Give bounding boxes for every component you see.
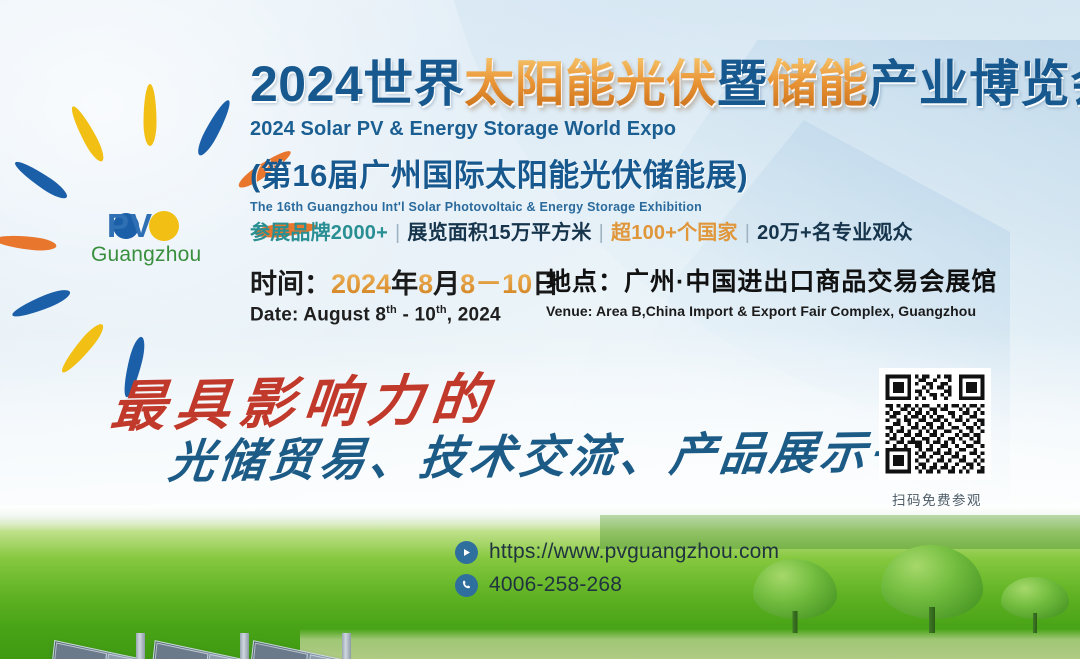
- qr-code-image[interactable]: [879, 368, 991, 480]
- logo-city-text: Guangzhou: [91, 243, 201, 267]
- logo-petal: [12, 157, 71, 202]
- logo-petal: [0, 233, 57, 252]
- date-label: 时间：: [250, 269, 331, 299]
- play-circle-icon: [455, 541, 478, 564]
- title-seg-5: 产业博览会: [868, 56, 1080, 112]
- phone-row[interactable]: 4006-258-268: [455, 573, 779, 597]
- title-seg-2: 太阳能光伏: [464, 56, 717, 112]
- stat-separator: |: [738, 222, 757, 244]
- date-en-sup1: th: [386, 304, 397, 316]
- logo-petal: [144, 84, 157, 146]
- logo-petal: [194, 97, 235, 158]
- logo-petal: [58, 320, 108, 376]
- date-english: Date: August 8th - 10th, 2024: [250, 304, 559, 326]
- date-month: 8: [418, 269, 433, 299]
- qr-block: 扫码免费参观: [879, 368, 995, 509]
- main-title: 2024世界太阳能光伏暨储能产业博览会: [250, 58, 1040, 111]
- stat-separator: |: [592, 222, 611, 244]
- stat-area: 展览面积15万平方米: [407, 222, 591, 244]
- venue-block: 地点：广州·中国进出口商品交易会展馆 Venue: Area B,China I…: [546, 262, 997, 319]
- contact-block: https://www.pvguangzhou.com 4006-258-268: [455, 540, 779, 606]
- venue-chinese: 地点：广州·中国进出口商品交易会展馆: [546, 262, 997, 298]
- title-seg-4: 储能: [767, 56, 868, 112]
- stats-row: 参展品牌2000+|展览面积15万平方米|超100+个国家|20万+名专业观众: [250, 216, 913, 245]
- logo-v-badge: [149, 211, 179, 241]
- phone-circle-icon: [455, 574, 478, 597]
- website-row[interactable]: https://www.pvguangzhou.com: [455, 540, 779, 564]
- date-en-a: Date: August 8: [250, 304, 386, 325]
- subtitle-chinese: (第16届广州国际太阳能光伏储能展): [250, 150, 1040, 195]
- venue-english: Venue: Area B,China Import & Export Fair…: [546, 303, 997, 319]
- date-chinese: 时间：2024年8月8－10日: [250, 262, 559, 301]
- solar-panel-array: [0, 489, 430, 659]
- date-en-c: , 2024: [447, 304, 501, 325]
- date-days: 8－10: [460, 269, 532, 299]
- slogan-line-2: 光储贸易、技术交流、产品展示平台!: [166, 414, 996, 491]
- tree-center: [880, 537, 984, 633]
- logo-petal: [10, 285, 72, 320]
- date-block: 时间：2024年8月8－10日 Date: August 8th - 10th,…: [250, 262, 559, 326]
- stat-brands: 参展品牌2000+: [250, 222, 388, 244]
- subtitle-english: The 16th Guangzhou Int'l Solar Photovolt…: [250, 200, 1040, 214]
- qr-caption: 扫码免费参观: [879, 489, 995, 509]
- logo-petal: [67, 103, 108, 164]
- date-year: 2024: [331, 269, 391, 299]
- logo-pv-text: PV: [107, 207, 153, 245]
- date-en-b: - 10: [397, 304, 436, 325]
- main-title-english: 2024 Solar PV & Energy Storage World Exp…: [250, 118, 1040, 141]
- date-month-unit: 月: [433, 269, 460, 299]
- stat-countries: 超100+个国家: [611, 222, 738, 244]
- title-seg-3: 暨: [717, 56, 768, 112]
- tree-right: [1000, 571, 1070, 633]
- stat-separator: |: [388, 222, 407, 244]
- date-year-unit: 年: [391, 269, 418, 299]
- stat-visitors: 20万+名专业观众: [757, 222, 913, 244]
- date-en-sup2: th: [436, 304, 447, 316]
- expo-banner: PV Guangzhou 2024世界太阳能光伏暨储能产业博览会 2024 So…: [0, 0, 1080, 659]
- title-seg-1: 2024世界: [250, 56, 464, 112]
- headline-block: 2024世界太阳能光伏暨储能产业博览会 2024 Solar PV & Ener…: [250, 58, 1040, 214]
- website-text[interactable]: https://www.pvguangzhou.com: [489, 540, 779, 564]
- phone-text[interactable]: 4006-258-268: [489, 573, 622, 597]
- pv-guangzhou-logo: PV Guangzhou: [55, 95, 245, 280]
